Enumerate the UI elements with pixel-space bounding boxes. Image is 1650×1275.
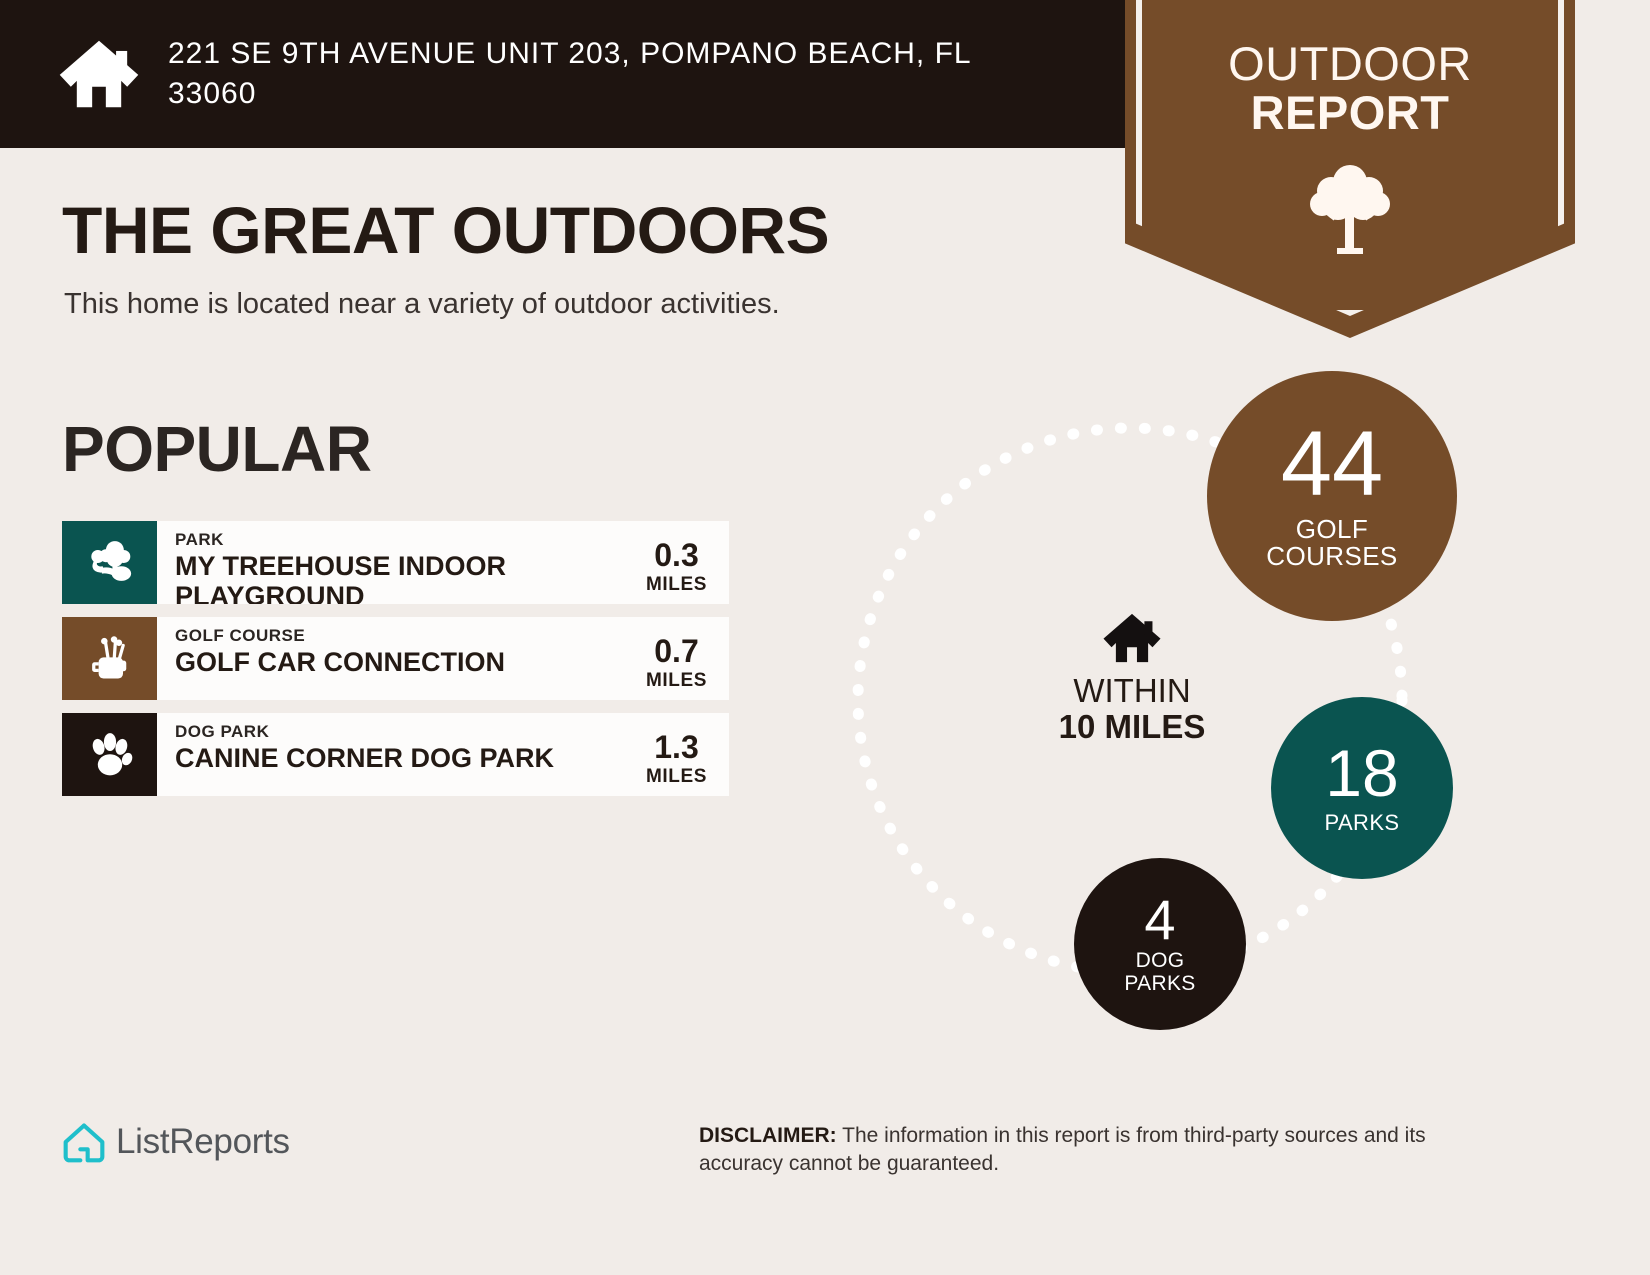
poi-name: GOLF CAR CONNECTION	[175, 647, 624, 677]
list-item[interactable]: PARK MY TREEHOUSE INDOOR PLAYGROUND 0.3 …	[62, 521, 729, 604]
home-icon	[56, 39, 142, 109]
listreports-logo[interactable]: ListReports	[62, 1120, 290, 1164]
page-title: THE GREAT OUTDOORS	[62, 192, 829, 268]
paw-icon	[84, 729, 136, 781]
stat-parks[interactable]: 18 PARKS	[1271, 697, 1453, 879]
poi-name: MY TREEHOUSE INDOOR PLAYGROUND	[175, 551, 624, 604]
poi-text: DOG PARK CANINE CORNER DOG PARK	[157, 713, 624, 796]
list-item[interactable]: GOLF COURSE GOLF CAR CONNECTION 0.7 MILE…	[62, 617, 729, 700]
stat-label-line1: GOLF	[1266, 516, 1397, 544]
poi-category: PARK	[175, 530, 624, 550]
poi-distance-value: 0.3	[624, 539, 729, 571]
stat-value: 4	[1144, 893, 1175, 946]
stat-label: DOG PARKS	[1124, 950, 1195, 995]
stat-value: 44	[1281, 421, 1383, 508]
home-icon	[1101, 612, 1163, 664]
list-item[interactable]: DOG PARK CANINE CORNER DOG PARK 1.3 MILE…	[62, 713, 729, 796]
poi-distance-unit: MILES	[624, 670, 729, 692]
disclaimer: DISCLAIMER: The information in this repo…	[699, 1122, 1511, 1178]
stat-dog-parks[interactable]: 4 DOG PARKS	[1074, 858, 1246, 1030]
stat-golf-courses[interactable]: 44 GOLF COURSES	[1207, 371, 1457, 621]
poi-distance-value: 0.7	[624, 635, 729, 667]
badge-title: OUTDOOR REPORT	[1125, 40, 1575, 138]
stat-label: GOLF COURSES	[1266, 516, 1397, 571]
poi-icon-tile	[62, 617, 157, 700]
stat-label-line1: DOG	[1124, 950, 1195, 972]
stat-label-line2: COURSES	[1266, 543, 1397, 571]
poi-name: CANINE CORNER DOG PARK	[175, 743, 624, 773]
poi-icon-tile	[62, 713, 157, 796]
popular-list: PARK MY TREEHOUSE INDOOR PLAYGROUND 0.3 …	[62, 521, 729, 809]
golf-bag-icon	[84, 633, 136, 685]
tree-icon	[1275, 158, 1425, 258]
poi-distance: 0.3 MILES	[624, 521, 729, 604]
header-bar: 221 SE 9TH AVENUE UNIT 203, POMPANO BEAC…	[0, 0, 1218, 148]
poi-distance-unit: MILES	[624, 766, 729, 788]
poi-category: DOG PARK	[175, 722, 624, 742]
page-subtitle: This home is located near a variety of o…	[64, 288, 780, 321]
within-label-line1: WITHIN	[1010, 673, 1254, 709]
poi-icon-tile	[62, 521, 157, 604]
within-radius-block: WITHIN 10 MILES	[1010, 612, 1254, 744]
poi-distance: 0.7 MILES	[624, 617, 729, 700]
poi-distance-unit: MILES	[624, 574, 729, 596]
section-heading-popular: POPULAR	[62, 412, 371, 486]
park-tree-icon	[84, 537, 136, 589]
listreports-house-icon	[62, 1120, 106, 1164]
listreports-wordmark: ListReports	[116, 1122, 290, 1162]
within-label-line2: 10 MILES	[1010, 709, 1254, 745]
badge-title-line1: OUTDOOR	[1125, 40, 1575, 89]
outdoor-report-page: 221 SE 9TH AVENUE UNIT 203, POMPANO BEAC…	[0, 0, 1650, 1275]
property-address: 221 SE 9TH AVENUE UNIT 203, POMPANO BEAC…	[168, 34, 1048, 114]
disclaimer-label: DISCLAIMER:	[699, 1124, 837, 1147]
stat-label-line2: PARKS	[1124, 973, 1195, 995]
poi-distance: 1.3 MILES	[624, 713, 729, 796]
poi-category: GOLF COURSE	[175, 626, 624, 646]
poi-text: GOLF COURSE GOLF CAR CONNECTION	[157, 617, 624, 700]
badge-title-line2: REPORT	[1125, 89, 1575, 138]
poi-text: PARK MY TREEHOUSE INDOOR PLAYGROUND	[157, 521, 624, 604]
stat-label: PARKS	[1325, 811, 1400, 834]
poi-distance-value: 1.3	[624, 731, 729, 763]
stat-value: 18	[1325, 742, 1398, 805]
